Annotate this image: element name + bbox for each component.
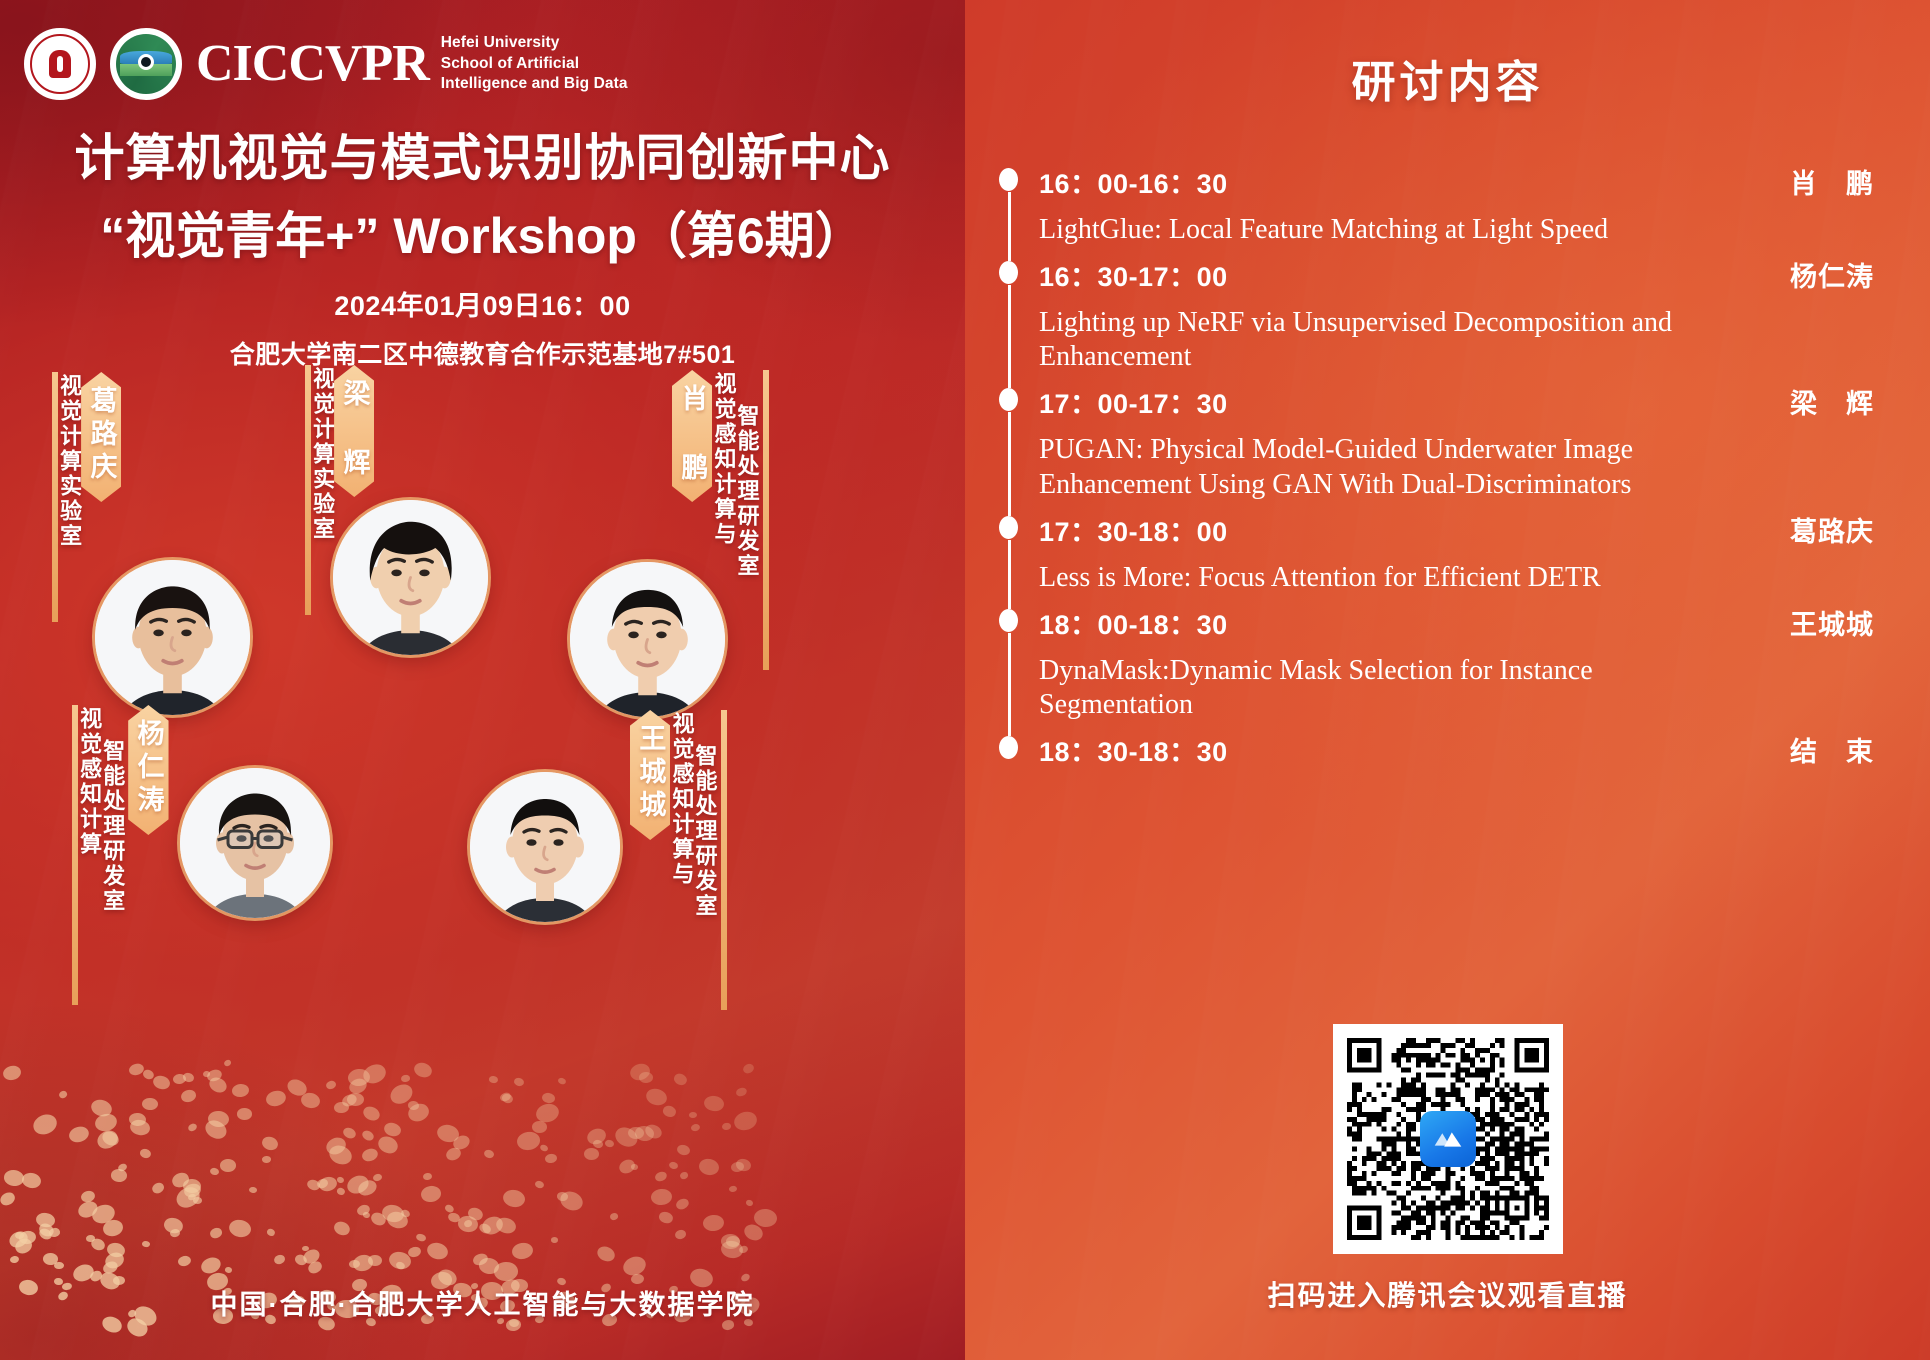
speaker-name-banner: 葛路庆 <box>81 372 121 502</box>
agenda-speaker: 梁 辉 <box>1790 382 1874 421</box>
speaker-portrait-4 <box>180 768 330 918</box>
timeline-bullet-icon <box>999 609 1018 632</box>
brand-subtitle: Hefei University School of Artificial In… <box>441 33 628 95</box>
speaker-lab-line: 智能处理研发室 <box>101 705 124 914</box>
speaker-lab: 视觉感知计算与智能处理研发室 <box>712 370 762 579</box>
speaker-label-3: 肖 鹏视觉感知计算与智能处理研发室 <box>672 370 769 670</box>
agenda-time: 18：00-18：30 <box>1039 603 1790 642</box>
agenda-title: 研讨内容 <box>965 46 1930 110</box>
tencent-meeting-logo-icon <box>1420 1111 1476 1167</box>
agenda-item[interactable]: 17：00-17：30梁 辉PUGAN: Physical Model-Guid… <box>977 382 1874 509</box>
speaker-lab: 视觉计算实验室 <box>58 372 81 549</box>
agenda-item[interactable]: 16：30-17：00杨仁涛Lighting up NeRF via Unsup… <box>977 255 1874 382</box>
speaker-lab-line: 视觉感知计算与 <box>712 370 735 579</box>
speaker-portrait-5 <box>470 772 620 922</box>
speaker-name-banner: 杨仁涛 <box>128 705 168 835</box>
page-subtitle: “视觉青年+” Workshop（第6期） <box>0 196 965 268</box>
brand-sub-line-2: School of Artificial <box>441 54 628 75</box>
agenda-time: 17：00-17：30 <box>1039 382 1790 421</box>
label-accent-rule <box>721 710 727 1010</box>
speaker-name-banner: 王城城 <box>630 710 670 840</box>
avatar <box>470 772 620 922</box>
left-panel: CICCVPR Hefei University School of Artif… <box>0 0 965 1360</box>
timeline-connector <box>1008 633 1011 736</box>
agenda-time: 16：00-16：30 <box>1039 162 1790 201</box>
brand-header: CICCVPR Hefei University School of Artif… <box>24 28 628 100</box>
agenda-list: 16：00-16：30肖 鹏LightGlue: Local Feature M… <box>965 162 1930 777</box>
timeline-connector <box>1008 412 1011 515</box>
page-title: 计算机视觉与模式识别协同创新中心 <box>0 118 965 190</box>
agenda-topic: Lighting up NeRF via Unsupervised Decomp… <box>1039 306 1739 374</box>
agenda-speaker: 肖 鹏 <box>1790 162 1874 201</box>
agenda-head: 18：30-18：30结 束 <box>1039 730 1874 769</box>
speaker-name-banner: 肖 鹏 <box>672 370 712 502</box>
timeline-connector <box>1008 192 1011 261</box>
timeline-bullet-icon <box>999 516 1018 539</box>
footer-affiliation: 中国·合肥·合肥大学人工智能与大数据学院 <box>0 1283 965 1322</box>
brand-acronym: CICCVPR <box>196 38 429 90</box>
qr-caption: 扫码进入腾讯会议观看直播 <box>965 1274 1930 1314</box>
speaker-lab-line: 智能处理研发室 <box>735 370 758 579</box>
speaker-lab: 视觉感知计算智能处理研发室 <box>78 705 128 914</box>
agenda-topic: LightGlue: Local Feature Matching at Lig… <box>1039 213 1739 247</box>
speaker-lab: 视觉感知计算与智能处理研发室 <box>670 710 720 919</box>
agenda-speaker: 杨仁涛 <box>1790 255 1874 294</box>
speaker-lab-line: 智能处理研发室 <box>693 710 716 919</box>
speaker-lab-line: 视觉感知计算与 <box>670 710 693 919</box>
agenda-topic: PUGAN: Physical Model-Guided Underwater … <box>1039 433 1739 501</box>
agenda-item[interactable]: 16：00-16：30肖 鹏LightGlue: Local Feature M… <box>977 162 1874 255</box>
agenda-item[interactable]: 17：30-18：00葛路庆Less is More: Focus Attent… <box>977 510 1874 603</box>
agenda-head: 17：30-18：00葛路庆 <box>1039 510 1874 549</box>
agenda-head: 16：30-17：00杨仁涛 <box>1039 255 1874 294</box>
qr-code[interactable] <box>1333 1024 1563 1254</box>
speaker-lab-line: 视觉感知计算 <box>78 705 101 914</box>
timeline-connector <box>1008 540 1011 609</box>
speaker-lab-line: 视觉计算实验室 <box>311 365 334 542</box>
agenda-time: 17：30-18：00 <box>1039 510 1790 549</box>
timeline-bullet-icon <box>999 168 1018 191</box>
label-accent-rule <box>763 370 769 670</box>
agenda-time: 18：30-18：30 <box>1039 730 1790 769</box>
qr-block: 扫码进入腾讯会议观看直播 <box>965 1024 1930 1314</box>
agenda-item[interactable]: 18：30-18：30结 束 <box>977 730 1874 777</box>
speaker-lab-line: 视觉计算实验室 <box>58 372 81 549</box>
event-venue: 合肥大学南二区中德教育合作示范基地7#501 <box>0 335 965 371</box>
brand-sub-line-3: Intelligence and Big Data <box>441 74 628 95</box>
agenda-head: 18：00-18：30王城城 <box>1039 603 1874 642</box>
speaker-label-1: 视觉计算实验室葛路庆 <box>52 372 121 622</box>
speaker-label-2: 视觉计算实验室梁 辉 <box>305 365 374 615</box>
ciccvpr-seal-icon <box>110 28 182 100</box>
title-block: 计算机视觉与模式识别协同创新中心 “视觉青年+” Workshop（第6期） 2… <box>0 118 965 371</box>
hefei-university-seal-icon <box>24 28 96 100</box>
agenda-time: 16：30-17：00 <box>1039 255 1790 294</box>
speaker-label-5: 王城城视觉感知计算与智能处理研发室 <box>630 710 727 1010</box>
agenda-item[interactable]: 18：00-18：30王城城DynaMask:Dynamic Mask Sele… <box>977 603 1874 730</box>
agenda-speaker: 葛路庆 <box>1790 510 1874 549</box>
speaker-label-4: 视觉感知计算智能处理研发室杨仁涛 <box>72 705 169 1005</box>
agenda-topic: DynaMask:Dynamic Mask Selection for Inst… <box>1039 654 1739 722</box>
speaker-lab: 视觉计算实验室 <box>311 365 334 542</box>
timeline-connector <box>1008 285 1011 388</box>
right-panel: 研讨内容 16：00-16：30肖 鹏LightGlue: Local Feat… <box>965 0 1930 1360</box>
brand-sub-line-1: Hefei University <box>441 33 628 54</box>
event-time: 2024年01月09日16：00 <box>0 284 965 323</box>
agenda-head: 17：00-17：30梁 辉 <box>1039 382 1874 421</box>
speaker-name-banner: 梁 辉 <box>334 365 374 497</box>
avatar <box>180 768 330 918</box>
timeline-bullet-icon <box>999 388 1018 411</box>
timeline-bullet-icon <box>999 736 1018 759</box>
poster-root: CICCVPR Hefei University School of Artif… <box>0 0 1930 1360</box>
agenda-speaker: 结 束 <box>1790 730 1874 769</box>
agenda-head: 16：00-16：30肖 鹏 <box>1039 162 1874 201</box>
timeline-bullet-icon <box>999 261 1018 284</box>
agenda-speaker: 王城城 <box>1790 603 1874 642</box>
agenda-topic: Less is More: Focus Attention for Effici… <box>1039 561 1739 595</box>
